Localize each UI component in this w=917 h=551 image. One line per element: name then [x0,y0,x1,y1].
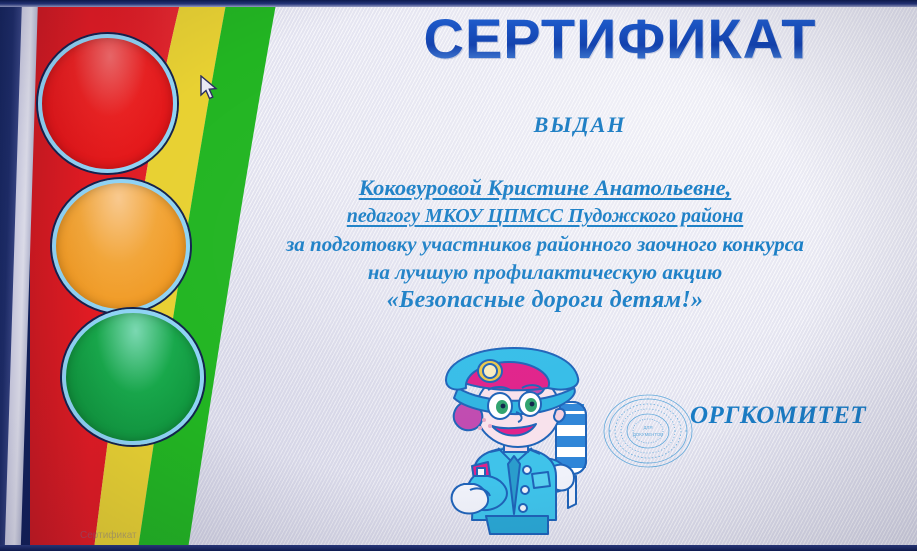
amber-light [52,179,190,313]
screen-bezel-top [0,0,917,7]
certificate-paper: СЕРТИФИКАТ СЕРТИФИКАТ ВЫДАН Коковуровой … [30,4,917,549]
page-title: СЕРТИФИКАТ [350,6,890,71]
official-stamp: ДЛЯ ДОКУМЕНТОВ [602,392,700,470]
issued-label: ВЫДАН [330,112,830,138]
screen-bezel-bottom [0,545,917,551]
signatory-label: ОРГКОМИТЕТ [690,402,866,430]
recipient-name: Коковуровой Кристине Анатольевне, [180,174,910,202]
red-light [38,34,177,173]
mouse-pointer-icon [199,75,221,103]
traffic-police-boy-illustration [428,344,628,549]
green-light [62,309,204,445]
award-reason-line-1: за подготовку участников районного заочн… [180,230,910,258]
stamp-center-line-2: ДОКУМЕНТОВ [633,432,663,437]
screen-capture: СЕРТИФИКАТ СЕРТИФИКАТ ВЫДАН Коковуровой … [0,0,917,551]
certificate-body: Коковуровой Кристине Анатольевне, педаго… [180,174,910,314]
footnote-text: Сертификат [80,530,137,541]
recipient-role: педагогу МКОУ ЦПМСС Пудожского района [180,202,910,230]
stamp-center-line-1: ДЛЯ [643,425,652,430]
competition-title: «Безопасные дороги детям!» [180,286,910,314]
award-reason-line-2: на лучшую профилактическую акцию [180,258,910,286]
